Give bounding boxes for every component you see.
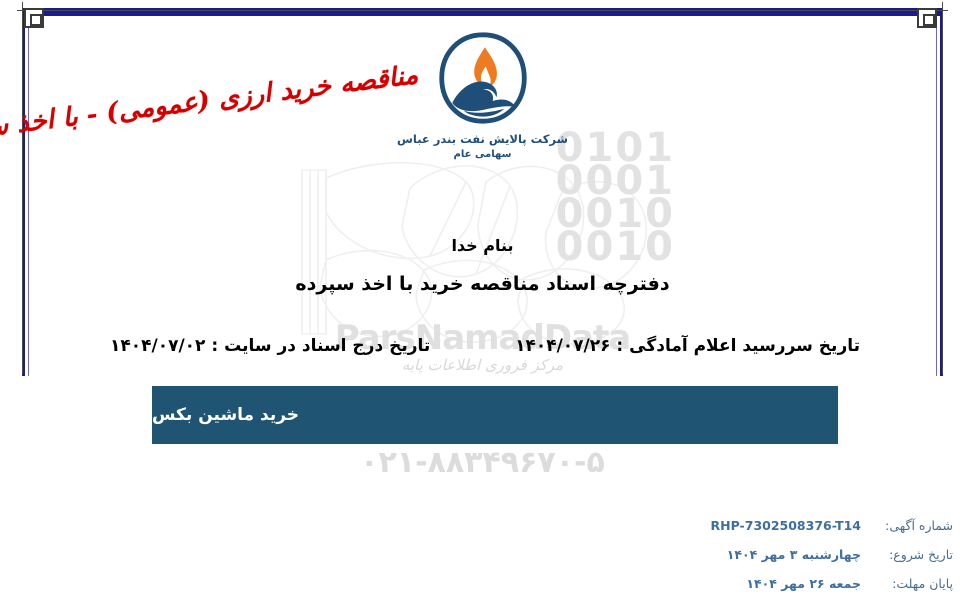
meta-label: تاریخ شروع: (861, 547, 953, 562)
corner-ornament-top-right-icon (917, 8, 937, 28)
document-page: 0101 0001 0010 0010 ParsNamadData مرکز ف… (0, 0, 965, 613)
flame-wave-logo-icon (435, 30, 531, 126)
meta-value: جمعه ۲۶ مهر ۱۴۰۴ (746, 576, 861, 591)
meta-row: شماره آگهی: RHP-7302508376-T14 (593, 518, 953, 533)
company-name-line1: شرکت پالایش نفت بندر عباس (0, 132, 965, 146)
meta-row: تاریخ شروع: چهارشنبه ۳ مهر ۱۴۰۴ (593, 547, 953, 562)
heading-block: بنام خدا دفترچه اسناد مناقصه خرید با اخذ… (0, 236, 965, 295)
site-date-group: تاریخ درج اسناد در سایت : ۱۴۰۴/۰۷/۰۲ (110, 336, 430, 356)
meta-value: چهارشنبه ۳ مهر ۱۴۰۴ (727, 547, 861, 562)
binary-watermark-line: 0001 (556, 165, 675, 198)
site-date-label: تاریخ درج اسناد در سایت : (211, 336, 430, 356)
meta-value: RHP-7302508376-T14 (711, 518, 861, 533)
watermark-phone: ۰۲۱-۸۸۳۴۹۶۷۰-۵ (0, 445, 965, 480)
watermark-tagline-small: مرکز فروری اطلاعات پایه (0, 356, 965, 374)
due-date-label: تاریخ سررسید اعلام آمادگی : (616, 336, 860, 356)
bismillah-text: بنام خدا (0, 236, 965, 255)
document-title: دفترچه اسناد مناقصه خرید با اخذ سپرده (0, 273, 965, 295)
subject-banner: خرید ماشین بکس (152, 386, 838, 444)
announcement-meta: شماره آگهی: RHP-7302508376-T14 تاریخ شرو… (593, 518, 953, 605)
binary-watermark-line: 0010 (556, 198, 675, 231)
subject-banner-label: خرید ماشین بکس (152, 405, 299, 425)
meta-row: پایان مهلت: جمعه ۲۶ مهر ۱۴۰۴ (593, 576, 953, 591)
due-date-value: ۱۴۰۴/۰۷/۲۶ (515, 336, 610, 356)
meta-label: شماره آگهی: (861, 518, 953, 533)
corner-ornament-top-left-icon (24, 8, 44, 28)
meta-label: پایان مهلت: (861, 576, 953, 591)
dates-row: تاریخ سررسید اعلام آمادگی : ۱۴۰۴/۰۷/۲۶ ت… (110, 336, 860, 356)
due-date-group: تاریخ سررسید اعلام آمادگی : ۱۴۰۴/۰۷/۲۶ (515, 336, 860, 356)
site-date-value: ۱۴۰۴/۰۷/۰۲ (110, 336, 205, 356)
company-name-line2: سهامی عام (0, 149, 965, 160)
